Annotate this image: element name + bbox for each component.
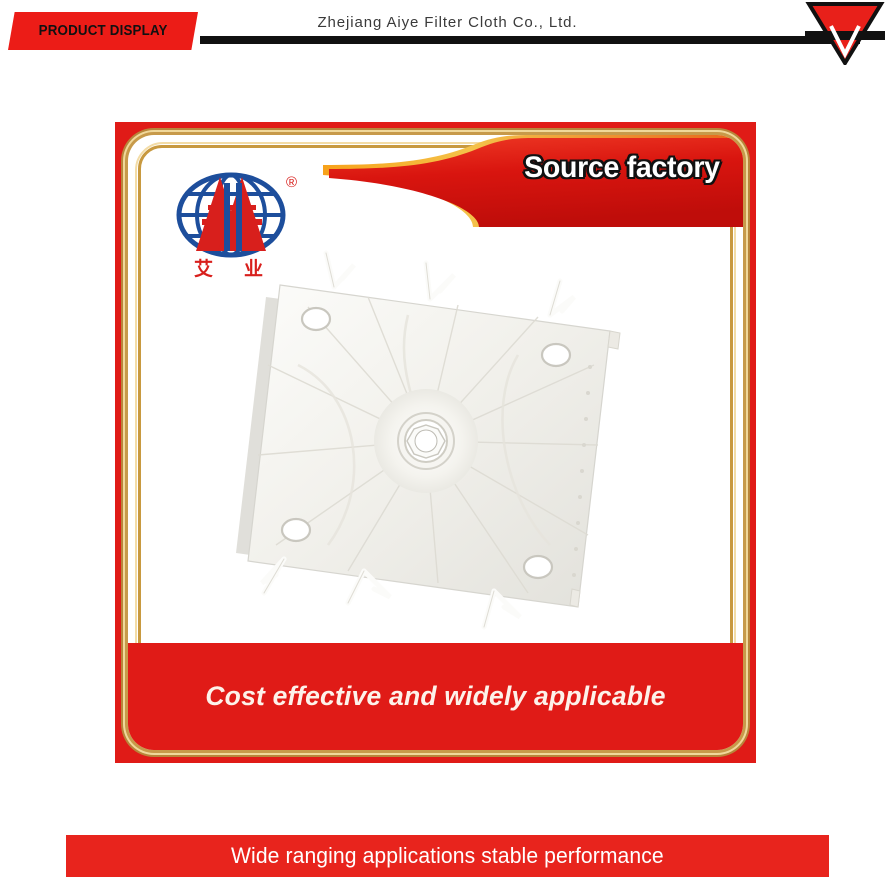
header-divider-rule: [200, 36, 860, 44]
source-factory-badge-label: Source factory: [524, 151, 720, 185]
page-header: PRODUCT DISPLAY Zhejiang Aiye Filter Clo…: [0, 0, 895, 70]
product-caption-text: Cost effective and widely applicable: [205, 681, 665, 712]
footer-banner: Wide ranging applications stable perform…: [66, 835, 829, 877]
product-card: Source factory: [115, 122, 756, 763]
product-card-inner: Source factory: [128, 135, 743, 750]
company-name: Zhejiang Aiye Filter Cloth Co., Ltd.: [0, 14, 895, 31]
inverted-triangle-v-mark-icon: [805, 2, 885, 65]
filter-press-cloth-icon: [158, 245, 713, 665]
footer-banner-text: Wide ranging applications stable perform…: [231, 843, 664, 869]
product-caption-band: Cost effective and widely applicable: [128, 643, 743, 750]
svg-text:®: ®: [286, 174, 297, 191]
